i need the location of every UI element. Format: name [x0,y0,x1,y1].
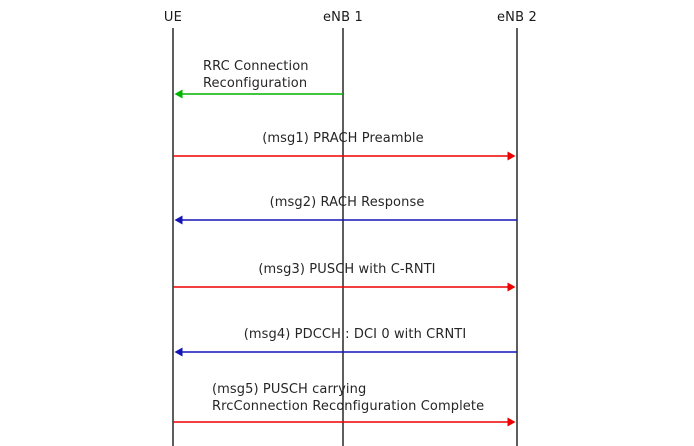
message-label-msg5-pusch-carrying-rrc-reconfiguration-complete: (msg5) PUSCH carryingRrcConnection Recon… [212,381,484,415]
message-arrow-msg5-pusch-carrying-rrc-reconfiguration-complete [173,418,516,427]
message-label-msg4-pdcch-dci0-with-crnti: (msg4) PDCCH : DCI 0 with CRNTI [244,326,467,343]
arrow-head-msg4-pdcch-dci0-with-crnti [175,348,183,357]
message-label-line: (msg2) RACH Response [270,194,425,211]
arrow-head-msg3-pusch-with-c-rnti [508,283,516,292]
message-label-msg3-pusch-with-c-rnti: (msg3) PUSCH with C-RNTI [258,261,435,278]
arrow-head-msg5-pusch-carrying-rrc-reconfiguration-complete [508,418,516,427]
arrow-head-msg1-prach-preamble [508,152,516,161]
message-label-msg1-prach-preamble: (msg1) PRACH Preamble [262,130,424,147]
message-label-line: (msg4) PDCCH : DCI 0 with CRNTI [244,326,467,343]
message-arrow-msg4-pdcch-dci0-with-crnti [175,348,518,357]
actor-label-enb1: eNB 1 [323,10,363,25]
message-label-line: (msg3) PUSCH with C-RNTI [258,261,435,278]
message-label-line: (msg1) PRACH Preamble [262,130,424,147]
arrow-head-rrc-connection-reconfiguration [175,90,183,99]
message-label-msg2-rach-response: (msg2) RACH Response [270,194,425,211]
message-arrow-msg2-rach-response [175,216,518,225]
actor-label-enb2: eNB 2 [497,10,537,25]
message-label-line: RRC Connection [203,58,309,75]
message-label-line: Reconfiguration [203,75,309,92]
message-arrow-msg3-pusch-with-c-rnti [173,283,516,292]
message-label-line: (msg5) PUSCH carrying [212,381,484,398]
sequence-diagram-canvas: UEeNB 1eNB 2 RRC ConnectionReconfigurati… [0,0,694,446]
arrow-head-msg2-rach-response [175,216,183,225]
actor-label-ue: UE [164,10,182,25]
message-arrow-msg1-prach-preamble [173,152,516,161]
message-label-line: RrcConnection Reconfiguration Complete [212,398,484,415]
message-label-rrc-connection-reconfiguration: RRC ConnectionReconfiguration [203,58,309,92]
diagram-vector-layer [0,0,694,446]
